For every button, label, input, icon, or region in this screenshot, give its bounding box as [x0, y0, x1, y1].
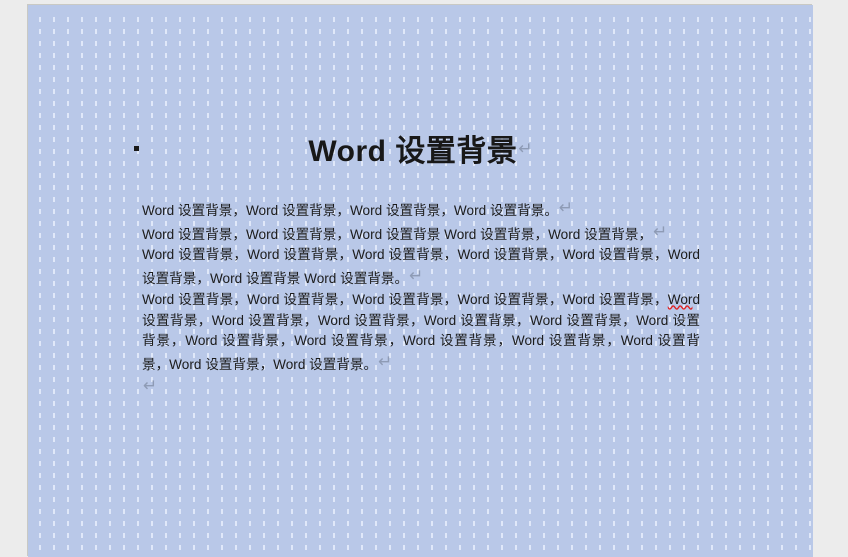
paragraph-mark-icon: ↵ [378, 352, 392, 372]
document-page[interactable]: Word 设置背景↵ Word 设置背景，Word 设置背景，Word 设置背景… [28, 5, 813, 557]
body-text-run: Word 设置背景，Word 设置背景，Word 设置背景，Word 设置背景，… [142, 292, 668, 307]
paragraph-mark-icon: ↵ [653, 222, 667, 242]
spellcheck-error-text: Wor [668, 292, 693, 307]
document-title-row: Word 设置背景↵ [28, 133, 813, 171]
body-paragraph: Word 设置背景，Word 设置背景，Word 设置背景 Word 设置背景，… [142, 222, 700, 246]
paragraph-mark-icon: ↵ [559, 198, 573, 218]
paragraph-mark-icon: ↵ [518, 139, 532, 159]
page-content-layer: Word 设置背景↵ Word 设置背景，Word 设置背景，Word 设置背景… [28, 5, 813, 557]
paragraph-mark-icon: ↵ [143, 376, 157, 396]
body-text-run: Word 设置背景，Word 设置背景，Word 设置背景，Word 设置背景。 [142, 203, 558, 218]
paragraph-mark-icon: ↵ [409, 266, 423, 286]
body-paragraph: Word 设置背景，Word 设置背景，Word 设置背景，Word 设置背景。… [142, 198, 700, 222]
body-paragraph: ↵ [142, 376, 700, 397]
body-paragraph: Word 设置背景，Word 设置背景，Word 设置背景，Word 设置背景，… [142, 245, 700, 289]
body-text-run: Word 设置背景，Word 设置背景，Word 设置背景 Word 设置背景，… [142, 227, 652, 242]
document-canvas: Word 设置背景↵ Word 设置背景，Word 设置背景，Word 设置背景… [0, 0, 848, 557]
page-title: Word 设置背景 [308, 135, 517, 168]
document-body-text[interactable]: Word 设置背景，Word 设置背景，Word 设置背景，Word 设置背景。… [142, 198, 700, 396]
body-paragraph: Word 设置背景，Word 设置背景，Word 设置背景，Word 设置背景，… [142, 290, 700, 376]
